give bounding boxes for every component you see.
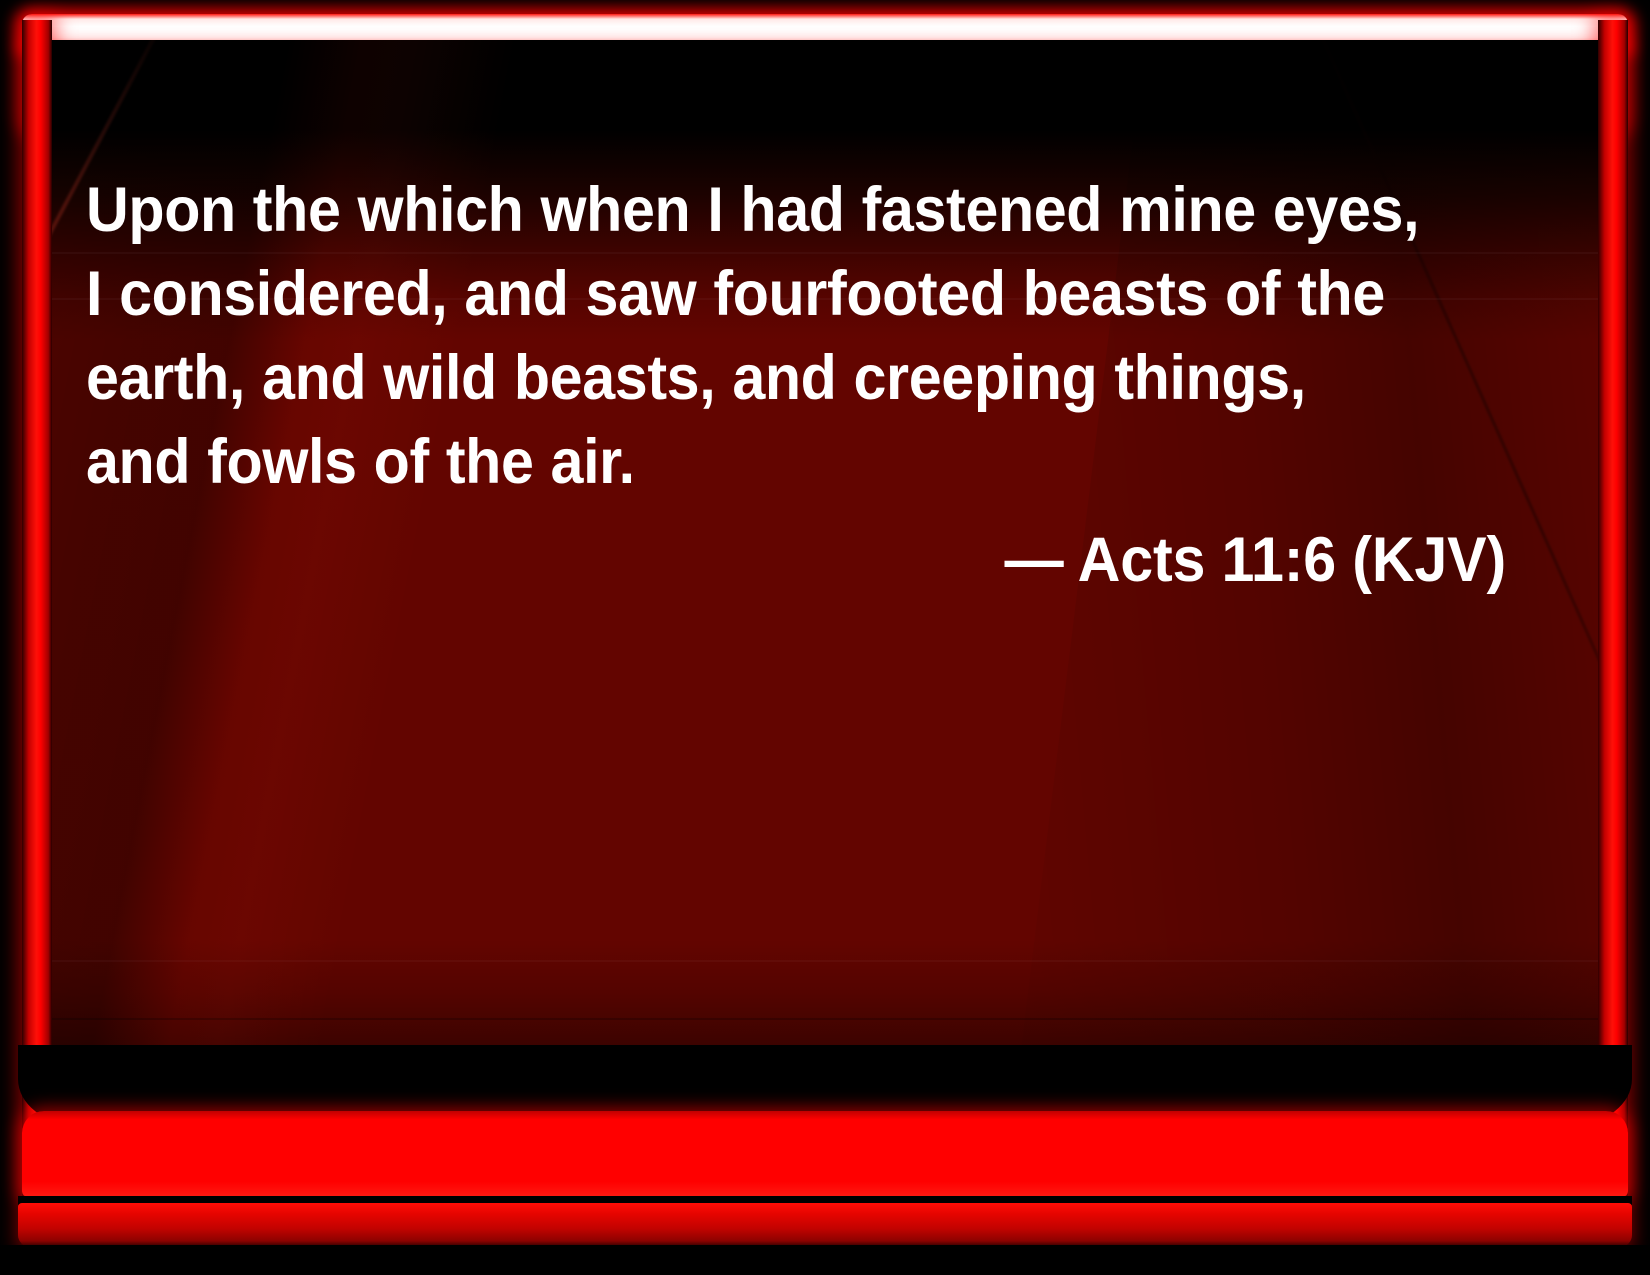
bottom-black-margin: [0, 1245, 1650, 1275]
bottom-gloss-bar: [18, 1203, 1632, 1247]
verse-text: Upon the which when I had fastened mine …: [86, 168, 1421, 504]
bottom-red-border-band: [22, 1111, 1628, 1197]
verse-citation: — Acts 11:6 (KJV): [171, 518, 1506, 602]
verse-text-area: Upon the which when I had fastened mine …: [86, 168, 1506, 602]
verse-slide: Upon the which when I had fastened mine …: [0, 0, 1650, 1275]
